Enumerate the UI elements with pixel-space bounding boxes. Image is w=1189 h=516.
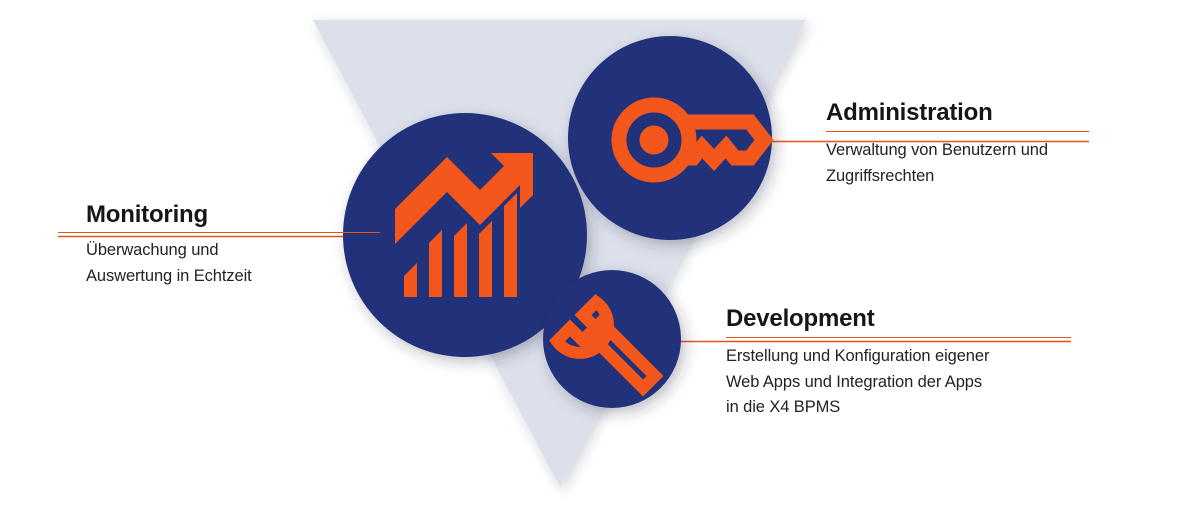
label-block-monitoring: Monitoring Überwachung und Auswertung in… [58,202,380,289]
label-description-administration: Verwaltung von Benutzern und Zugriffsrec… [826,132,1089,189]
node-circle-administration [568,36,772,240]
diagram-canvas: Monitoring Überwachung und Auswertung in… [0,0,1189,516]
label-title-development: Development [726,306,1071,332]
node-development[interactable] [543,270,681,408]
label-block-development: Development Erstellung und Konfiguration… [726,306,1071,421]
label-description-development: Erstellung und Konfiguration eigener Web… [726,338,1071,421]
label-block-administration: Administration Verwaltung von Benutzern … [826,100,1089,189]
label-description-monitoring: Überwachung und Auswertung in Echtzeit [58,233,380,289]
key-icon-pin [640,126,669,155]
label-title-monitoring: Monitoring [58,202,380,228]
node-administration[interactable] [568,36,772,240]
label-title-administration: Administration [826,100,1089,126]
